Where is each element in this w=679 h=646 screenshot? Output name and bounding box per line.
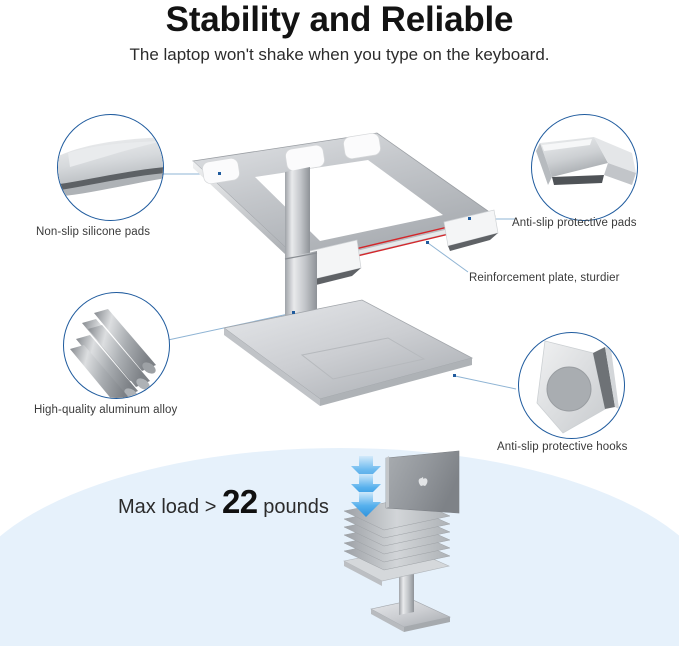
max-load-value: 22	[222, 483, 258, 520]
silicone-pad-top-middle	[285, 144, 326, 172]
protective-hook-icon	[519, 333, 624, 438]
protective-hook-front-right-shadow	[448, 233, 498, 251]
callout-label-high-quality-aluminum-alloy: High-quality aluminum alloy	[34, 404, 177, 416]
stand-column-joint	[285, 253, 317, 259]
leader-line-reinforcement	[428, 243, 468, 272]
leader-anchor-dots	[218, 172, 471, 377]
leader-line-aluminum-alloy	[168, 313, 293, 340]
max-load-unit: pounds	[258, 496, 329, 518]
reinforcement-plate	[327, 224, 470, 262]
stand-top-frame	[193, 132, 498, 289]
leader-dot-protective-pads	[468, 217, 471, 220]
silicone-pad-top-right	[343, 132, 382, 159]
aluminum-rods-icon	[64, 293, 169, 398]
callout-label-non-slip-silicone-pads: Non-slip silicone pads	[36, 226, 150, 238]
callout-circle-anti-slip-protective-pads	[531, 114, 638, 221]
max-load-text: Max load > 22 pounds	[118, 487, 329, 522]
protective-hook-front-right	[444, 210, 498, 246]
silicone-pad-top-left	[202, 157, 241, 184]
leader-dot-aluminum-alloy	[292, 311, 295, 314]
stand-column	[285, 167, 317, 362]
leader-dot-reinforcement	[426, 241, 429, 244]
blue-dome-background	[0, 448, 679, 646]
product-infographic: Stability and Reliable The laptop won't …	[0, 0, 679, 646]
page-subtitle: The laptop won't shake when you type on …	[0, 43, 679, 67]
protective-hook-front-left	[293, 240, 361, 283]
leader-dot-silicone-pads	[218, 172, 221, 175]
protective-hook-front-left-shadow	[298, 268, 361, 289]
silicone-pad-icon	[58, 115, 163, 220]
stand-column-upper	[285, 167, 310, 262]
reinforcement-plate-highlight-upper	[330, 222, 469, 255]
callout-circle-non-slip-silicone-pads	[57, 114, 164, 221]
protective-pad-icon	[532, 115, 637, 220]
stand-base-plate	[224, 300, 472, 399]
leader-dot-protective-hooks	[453, 374, 456, 377]
callout-label-reinforcement-plate: Reinforcement plate, sturdier	[469, 272, 620, 284]
callout-circle-anti-slip-protective-hooks	[518, 332, 625, 439]
stand-base	[224, 300, 472, 406]
reinforcement-plate-highlight-lower	[332, 229, 470, 262]
page-title: Stability and Reliable	[0, 0, 679, 40]
callout-circle-high-quality-aluminum-alloy	[63, 292, 170, 399]
leader-lines	[160, 174, 516, 389]
leader-line-protective-hooks	[455, 376, 516, 389]
callout-label-anti-slip-protective-pads: Anti-slip protective pads	[512, 217, 637, 229]
stand-base-recess	[302, 338, 424, 379]
stand-column-lower	[285, 251, 317, 362]
max-load-prefix: Max load >	[118, 496, 222, 518]
callout-label-anti-slip-protective-hooks: Anti-slip protective hooks	[497, 441, 627, 453]
